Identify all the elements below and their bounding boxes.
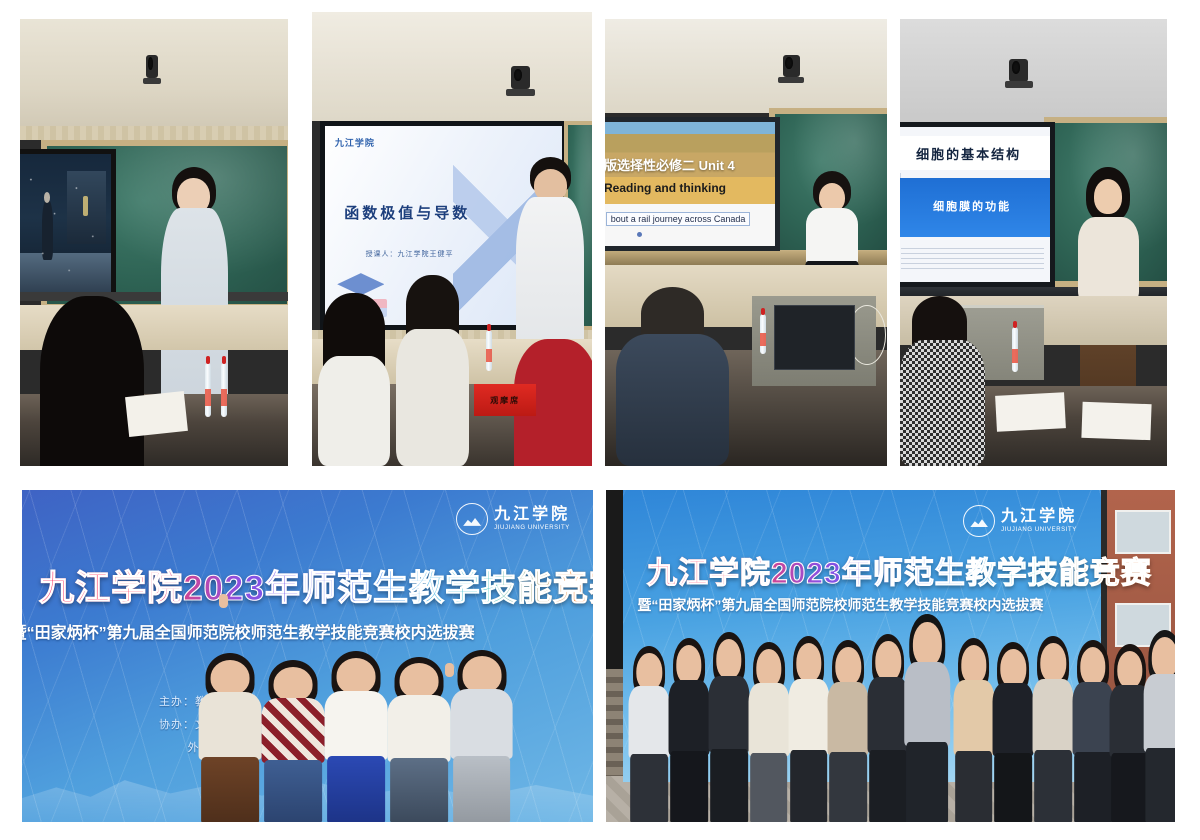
banner-subtitle: 暨“田家炳杯”第九届全国师范院校师范生教学技能竞赛校内选拔赛 bbox=[22, 619, 475, 643]
university-name-en: JIUJIANG UNIVERSITY bbox=[494, 525, 570, 531]
university-seal-icon bbox=[963, 505, 995, 537]
score-sheet bbox=[125, 391, 188, 437]
participants-row bbox=[22, 649, 593, 822]
photo-english-lesson-demo[interactable]: 版选择性必修二 Unit 4 Reading and thinking bout… bbox=[605, 19, 887, 466]
classroom-display-screen: 细胞的基本结构 细胞膜的功能 bbox=[900, 122, 1055, 287]
ceiling-camera-icon bbox=[511, 66, 531, 89]
ceiling-camera-icon bbox=[146, 55, 158, 78]
banner-title: 九江学院2023年师范生教学技能竞赛 bbox=[647, 548, 1152, 592]
participant bbox=[748, 649, 789, 822]
participant bbox=[669, 645, 710, 822]
university-logo: 九江学院 JIUJIANG UNIVERSITY bbox=[963, 505, 1077, 537]
water-bottle bbox=[205, 363, 211, 417]
water-bottle bbox=[1012, 327, 1018, 372]
banner-subtitle: 暨“田家炳杯”第九届全国师范院校师范生教学技能竞赛校内选拔赛 bbox=[637, 595, 1043, 615]
slide-logo: 九江学院 bbox=[335, 136, 375, 149]
score-sheet bbox=[995, 393, 1066, 432]
participants-row bbox=[606, 629, 1175, 822]
judge-figure bbox=[33, 296, 151, 466]
water-bottle bbox=[760, 314, 766, 354]
participant bbox=[387, 663, 450, 822]
university-logo: 九江学院 JIUJIANG UNIVERSITY bbox=[456, 503, 570, 535]
judge-figure bbox=[900, 296, 985, 466]
participant bbox=[1033, 643, 1074, 822]
participant bbox=[325, 658, 388, 822]
biology-slide: 细胞的基本结构 细胞膜的功能 bbox=[900, 127, 1050, 282]
photo-biology-lesson-demo[interactable]: 细胞的基本结构 细胞膜的功能 bbox=[900, 19, 1167, 466]
slide-title: 细胞的基本结构 bbox=[916, 144, 1021, 163]
participant bbox=[828, 647, 869, 822]
participant bbox=[788, 643, 829, 822]
slide-subtitle: 细胞膜的功能 bbox=[900, 198, 1050, 214]
water-bottle bbox=[221, 363, 227, 417]
water-bottle bbox=[486, 330, 492, 371]
competition-backdrop: 九江学院 JIUJIANG UNIVERSITY 九江学院2023年师范生教学技… bbox=[22, 490, 593, 822]
participant bbox=[953, 645, 994, 822]
slide-title: 版选择性必修二 Unit 4 bbox=[605, 155, 735, 174]
slide-title: 函数极值与导数 bbox=[344, 202, 470, 223]
film-still-slide bbox=[20, 154, 111, 296]
laptop bbox=[774, 305, 855, 370]
participant bbox=[450, 656, 513, 822]
projection-screen: 版选择性必修二 Unit 4 Reading and thinking bout… bbox=[605, 117, 780, 251]
peace-sign-hand bbox=[219, 594, 228, 608]
judge-figure bbox=[318, 293, 391, 466]
participant bbox=[629, 653, 670, 822]
photo-group-small[interactable]: 九江学院 JIUJIANG UNIVERSITY 九江学院2023年师范生教学技… bbox=[22, 490, 593, 822]
presenter-figure bbox=[1076, 167, 1140, 417]
judge-figure bbox=[396, 275, 469, 466]
participant bbox=[199, 660, 262, 822]
slide-subtitle: Reading and thinking bbox=[605, 181, 726, 195]
judge-figure bbox=[616, 287, 729, 466]
score-sheet bbox=[1081, 402, 1152, 440]
participant bbox=[1073, 647, 1114, 822]
participant bbox=[262, 667, 325, 822]
photo-math-lesson-demo[interactable]: 九江学院 函数极值与导数 授课人：九江学院王健平 bbox=[312, 12, 592, 466]
university-name-cn: 九江学院 bbox=[494, 507, 570, 523]
participant-faculty bbox=[1144, 637, 1175, 822]
classroom-display-screen bbox=[20, 149, 116, 301]
participant bbox=[708, 639, 749, 822]
participant-faculty bbox=[905, 622, 951, 822]
participant bbox=[868, 641, 909, 822]
slide-subtitle: 授课人：九江学院王健平 bbox=[366, 249, 454, 259]
photo-chinese-lesson-demo[interactable] bbox=[20, 19, 288, 466]
university-name-en: JIUJIANG UNIVERSITY bbox=[1001, 527, 1077, 533]
university-name-cn: 九江学院 bbox=[1001, 509, 1077, 525]
ceiling-camera-icon bbox=[783, 55, 800, 77]
ceiling-camera-icon bbox=[1009, 59, 1028, 81]
banner-title: 九江学院2023年师范生教学技能竞赛 bbox=[39, 560, 593, 611]
photo-collage: 九江学院 函数极值与导数 授课人：九江学院王健平 bbox=[0, 0, 1200, 840]
english-slide: 版选择性必修二 Unit 4 Reading and thinking bout… bbox=[605, 122, 775, 246]
photo-group-large[interactable]: 九江学院 JIUJIANG UNIVERSITY 九江学院2023年师范生教学技… bbox=[606, 490, 1175, 822]
nameplate-label: 观摩席 bbox=[490, 395, 520, 406]
university-seal-icon bbox=[456, 503, 488, 535]
slide-caption: bout a rail journey across Canada bbox=[606, 212, 751, 226]
nameplate: 观摩席 bbox=[474, 384, 536, 416]
participant bbox=[993, 649, 1034, 822]
